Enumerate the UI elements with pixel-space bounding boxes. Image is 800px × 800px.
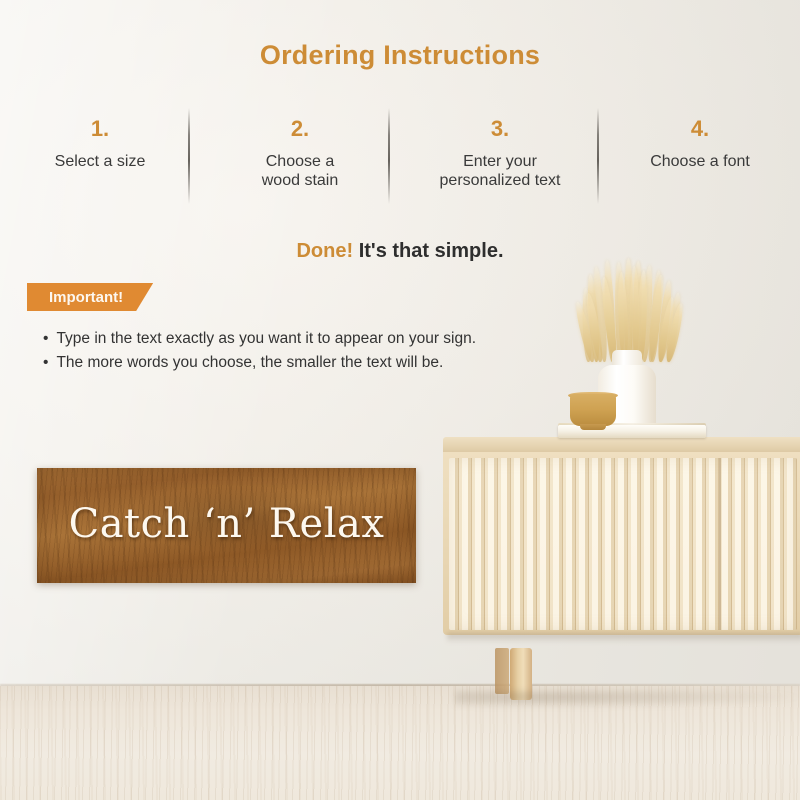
bullet-item-2: • The more words you choose, the smaller… bbox=[43, 351, 643, 375]
bullet-marker-2: • bbox=[43, 351, 48, 375]
brass-bowl bbox=[570, 394, 616, 426]
step-4-number: 4. bbox=[600, 118, 800, 140]
product-lifestyle-infographic: Ordering Instructions 1. Select a size 2… bbox=[0, 0, 800, 800]
sideboard-underside-shadow bbox=[447, 633, 800, 643]
important-bullet-list: • Type in the text exactly as you want i… bbox=[43, 327, 643, 375]
step-1-label: Select a size bbox=[0, 153, 200, 172]
sideboard-top-surface bbox=[443, 437, 800, 453]
bullet-marker-1: • bbox=[43, 327, 48, 351]
step-divider-3 bbox=[597, 108, 599, 204]
sideboard-leg-rear bbox=[495, 648, 509, 694]
done-tagline: Done! It's that simple. bbox=[0, 240, 800, 263]
bullet-item-1: • Type in the text exactly as you want i… bbox=[43, 327, 643, 351]
steps-row: 1. Select a size 2. Choose a wood stain … bbox=[0, 118, 800, 218]
sideboard-fluted-panel bbox=[449, 458, 797, 630]
step-4: 4. Choose a font bbox=[600, 118, 800, 172]
important-ribbon: Important! bbox=[27, 283, 153, 311]
step-4-label: Choose a font bbox=[600, 153, 800, 172]
sideboard-door-seam bbox=[719, 458, 721, 630]
wood-sign-product: Catch ‘n’ Relax bbox=[37, 468, 416, 583]
bullet-text-1: Type in the text exactly as you want it … bbox=[56, 327, 476, 351]
step-3-number: 3. bbox=[400, 118, 600, 140]
sideboard-cabinet bbox=[443, 437, 800, 649]
page-title: Ordering Instructions bbox=[0, 40, 800, 71]
bullet-text-2: The more words you choose, the smaller t… bbox=[56, 351, 443, 375]
step-divider-1 bbox=[188, 108, 190, 204]
step-divider-2 bbox=[388, 108, 390, 204]
step-2-label: Choose a wood stain bbox=[200, 153, 400, 191]
step-1: 1. Select a size bbox=[0, 118, 200, 172]
step-3: 3. Enter your personalized text bbox=[400, 118, 600, 191]
step-2-number: 2. bbox=[200, 118, 400, 140]
step-1-number: 1. bbox=[0, 118, 200, 140]
step-2: 2. Choose a wood stain bbox=[200, 118, 400, 191]
sideboard-floor-shadow bbox=[455, 690, 800, 708]
step-3-label: Enter your personalized text bbox=[400, 153, 600, 191]
done-highlight: Done! bbox=[296, 240, 353, 262]
done-rest: It's that simple. bbox=[359, 240, 504, 262]
wood-sign-text: Catch ‘n’ Relax bbox=[37, 468, 416, 583]
important-ribbon-label: Important! bbox=[49, 289, 123, 306]
bowl-foot bbox=[580, 424, 606, 430]
